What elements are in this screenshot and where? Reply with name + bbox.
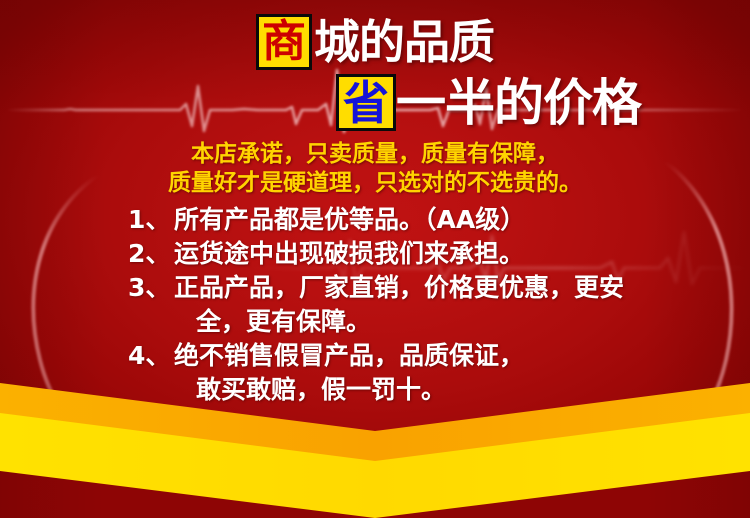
point-text: 所有产品都是优等品。（AA级） <box>174 203 728 237</box>
point-number: 3、 <box>128 271 174 305</box>
point-number: 2、 <box>128 237 174 271</box>
headline-line-2: 省 一半的价格 <box>0 74 750 131</box>
point-text-wrap: 正品产品，厂家直销，价格更优惠，更安 全，更有保障。 <box>174 271 728 339</box>
list-item: 3、 正品产品，厂家直销，价格更优惠，更安 全，更有保障。 <box>128 271 728 339</box>
promise-line-1: 本店承诺，只卖质量，质量有保障， <box>0 140 750 169</box>
promise-block: 本店承诺，只卖质量，质量有保障， 质量好才是硬道理，只选对的不选贵的。 <box>0 140 750 198</box>
headline-line-1: 商 城的品质 <box>0 14 750 70</box>
boxed-char-sheng: 省 <box>336 74 396 131</box>
points-list: 1、 所有产品都是优等品。（AA级） 2、 运货途中出现破损我们来承担。 3、 … <box>128 203 728 407</box>
headline-line-1-text: 城的品质 <box>314 19 494 65</box>
point-text-continued: 敢买敢赔，假一罚十。 <box>174 373 728 407</box>
list-item: 4、 绝不销售假冒产品，品质保证， 敢买敢赔，假一罚十。 <box>128 339 728 407</box>
headline-line-2-text: 一半的价格 <box>396 78 641 128</box>
point-text: 绝不销售假冒产品，品质保证， <box>174 341 524 370</box>
point-text: 运货途中出现破损我们来承担。 <box>174 237 728 271</box>
point-number: 1、 <box>128 203 174 237</box>
point-text-wrap: 绝不销售假冒产品，品质保证， 敢买敢赔，假一罚十。 <box>174 339 728 407</box>
boxed-char-shang: 商 <box>256 14 312 70</box>
headline-block: 商 城的品质 省 一半的价格 <box>0 14 750 131</box>
list-item: 2、 运货途中出现破损我们来承担。 <box>128 237 728 271</box>
point-text: 正品产品，厂家直销，价格更优惠，更安 <box>174 273 624 302</box>
point-text-continued: 全，更有保障。 <box>174 305 728 339</box>
promo-banner: 商 城的品质 省 一半的价格 本店承诺，只卖质量，质量有保障， 质量好才是硬道理… <box>0 0 750 518</box>
point-number: 4、 <box>128 339 174 373</box>
list-item: 1、 所有产品都是优等品。（AA级） <box>128 203 728 237</box>
promise-line-2: 质量好才是硬道理，只选对的不选贵的。 <box>0 169 750 198</box>
